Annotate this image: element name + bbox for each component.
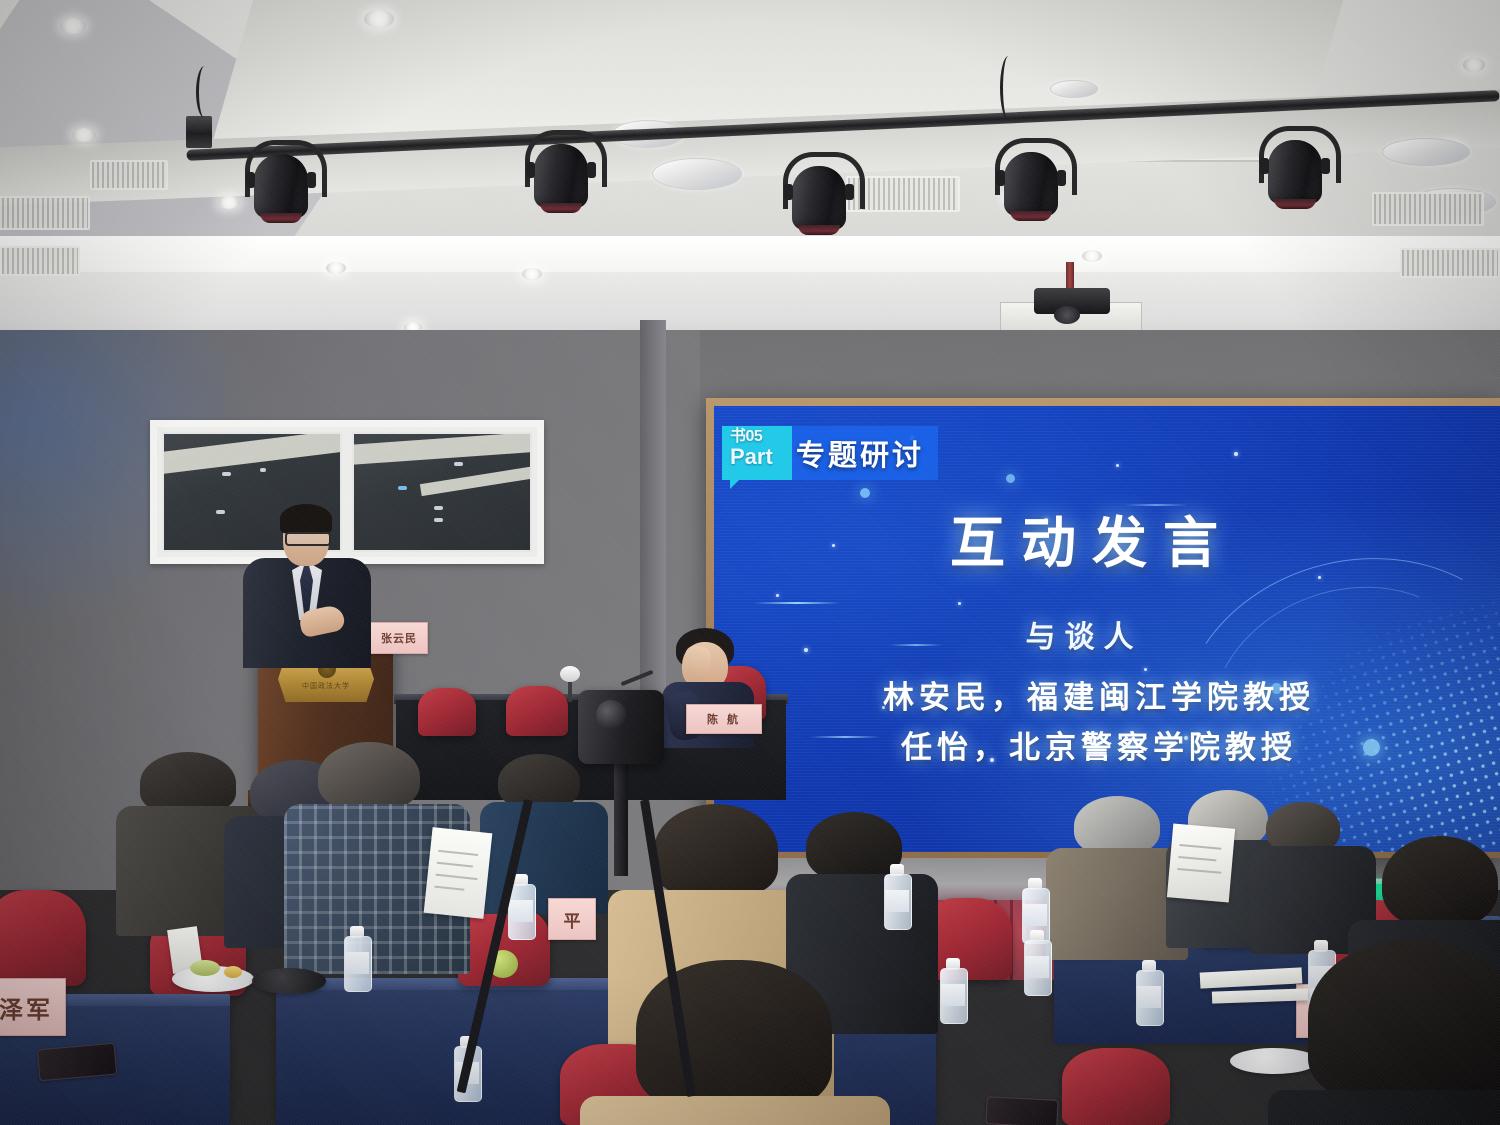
smartphone — [985, 1096, 1058, 1125]
speaker-glasses-icon — [285, 532, 331, 546]
oval-ceiling-light-icon — [652, 158, 742, 190]
downlight-icon — [218, 196, 240, 209]
microphone-icon — [560, 666, 580, 682]
stage-light-icon — [250, 138, 312, 220]
podium-name-card-text: 张云民 — [381, 630, 417, 646]
fruit-icon — [224, 966, 242, 978]
screen-accent-dot — [860, 488, 870, 498]
speaker-hair — [280, 504, 332, 534]
camera-lens-icon — [596, 700, 626, 730]
slide-badge-part: 书05 Part — [722, 426, 792, 480]
audience-hair — [1382, 836, 1498, 928]
audience-hair — [806, 812, 902, 882]
podium-name-card: 张云民 — [370, 622, 428, 654]
window-pane-right — [352, 432, 532, 552]
truss-cable — [1000, 56, 1017, 120]
downlight-icon — [1463, 58, 1485, 72]
ring-light-icon — [1050, 80, 1098, 98]
downlight-icon — [522, 268, 542, 280]
screen-accent-dot — [1006, 474, 1015, 483]
stage-light-icon — [1264, 124, 1326, 206]
audience-hair — [318, 742, 420, 812]
audience-name-card: 泽军 — [0, 978, 66, 1036]
wall-window — [150, 420, 544, 564]
stage-light-icon — [530, 128, 592, 210]
audience-chair — [0, 890, 86, 986]
downlight-icon — [60, 18, 86, 34]
slide-subtitle: 与谈人 — [714, 612, 1454, 656]
audience-hair — [636, 960, 832, 1110]
handout-paper — [1167, 823, 1235, 902]
tripod-column — [614, 756, 628, 876]
audience-hair — [1308, 940, 1500, 1100]
slide-section-badge: 书05 Part 专题研讨 — [722, 426, 938, 480]
audience-chair — [1062, 1048, 1170, 1125]
conference-hall-scene: 书05 Part 专题研讨 互动发言 与谈人 林安民，福建闽江学院教授 任怡，北… — [0, 0, 1500, 1125]
head-table-chair — [506, 686, 568, 736]
downlight-icon — [72, 128, 96, 142]
led-screen: 书05 Part 专题研讨 互动发言 与谈人 林安民，福建闽江学院教授 任怡，北… — [714, 406, 1500, 852]
handout-paper — [424, 827, 493, 919]
head-table-chair — [418, 688, 476, 736]
downlight-icon — [326, 262, 346, 274]
head-table-name-card: 陈 航 — [686, 704, 762, 734]
audience-name-card-text: 平 — [564, 907, 581, 932]
ceiling-cove — [0, 236, 1500, 276]
slide-badge-part-label: Part — [730, 446, 788, 468]
truss-cable — [196, 66, 213, 118]
audience-hair — [654, 804, 778, 896]
lighting-truss-bracket — [186, 116, 212, 148]
smartphone — [37, 1043, 117, 1082]
audience-hat-icon — [140, 752, 236, 814]
audience-hair — [1074, 796, 1160, 856]
food-bowl — [252, 968, 326, 994]
wall-corner — [640, 320, 666, 750]
ceiling-vent — [1400, 248, 1500, 278]
video-camera — [578, 690, 664, 764]
head-table-name-card-text: 陈 航 — [707, 711, 741, 727]
audience-name-card: 平 — [548, 898, 596, 940]
slide-section-label: 专题研讨 — [778, 426, 938, 480]
audience-torso — [580, 1096, 890, 1125]
ceiling-vent — [90, 160, 168, 190]
fruit-icon — [190, 960, 220, 976]
downlight-icon — [1082, 250, 1102, 262]
stage-light-icon — [1000, 136, 1062, 218]
podium-emblem-text: 中国政法大学 — [278, 681, 374, 691]
oval-ceiling-light-icon — [1382, 138, 1470, 166]
food-plate — [1230, 1048, 1318, 1074]
ceiling-vent — [0, 196, 90, 230]
ceiling-vent — [1372, 192, 1484, 226]
downlight-icon — [364, 10, 394, 28]
audience-name-card-text: 泽军 — [0, 990, 53, 1025]
audience-torso — [1268, 1090, 1500, 1125]
projector-lens-icon — [1054, 306, 1080, 324]
slide-discussant-2: 任怡，北京警察学院教授 — [714, 722, 1484, 767]
ceiling-vent — [0, 246, 80, 276]
stage-light-icon — [788, 150, 850, 232]
slide-title: 互动发言 — [714, 498, 1470, 578]
slide-discussant-1: 林安民，福建闽江学院教授 — [714, 672, 1484, 717]
slide-badge-number: 书05 — [730, 429, 788, 445]
ceiling-projector — [1000, 288, 1140, 334]
